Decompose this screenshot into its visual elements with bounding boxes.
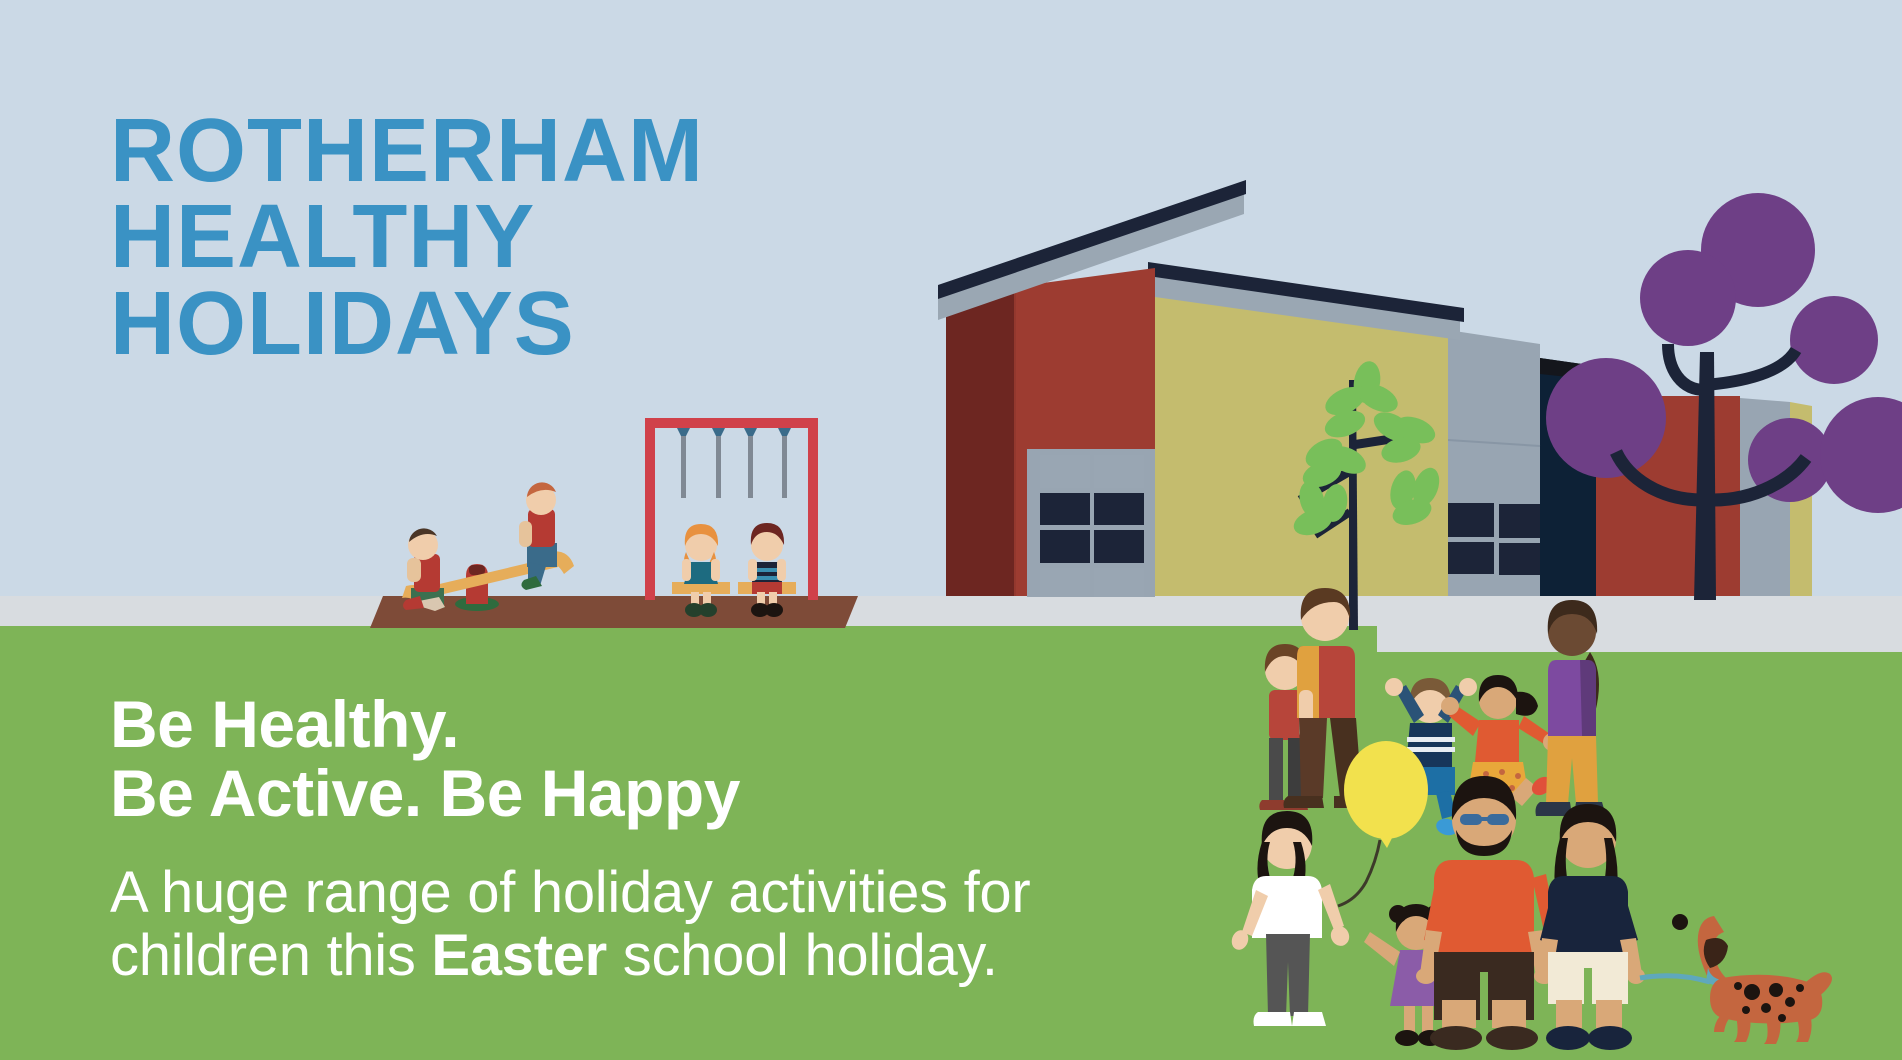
headline-line-2: Be Active. Be Happy (110, 759, 740, 828)
poster-title: ROTHERHAM HEALTHY HOLIDAYS (110, 108, 704, 367)
subcopy-emphasis: Easter (431, 923, 607, 988)
path-band-left (0, 596, 1377, 626)
title-line-2: HEALTHY (110, 194, 704, 280)
grass-background-right (1377, 652, 1902, 1060)
poster-subcopy: A huge range of holiday activities for c… (110, 862, 1190, 987)
poster-canvas: ROTHERHAM HEALTHY HOLIDAYS Be Healthy. B… (0, 0, 1902, 1060)
title-line-3: HOLIDAYS (110, 281, 704, 367)
headline-line-1: Be Healthy. (110, 690, 740, 759)
poster-headline: Be Healthy. Be Active. Be Happy (110, 690, 740, 829)
subcopy-after: school holiday. (607, 923, 998, 988)
path-band-right (1377, 596, 1902, 652)
title-line-1: ROTHERHAM (110, 108, 704, 194)
